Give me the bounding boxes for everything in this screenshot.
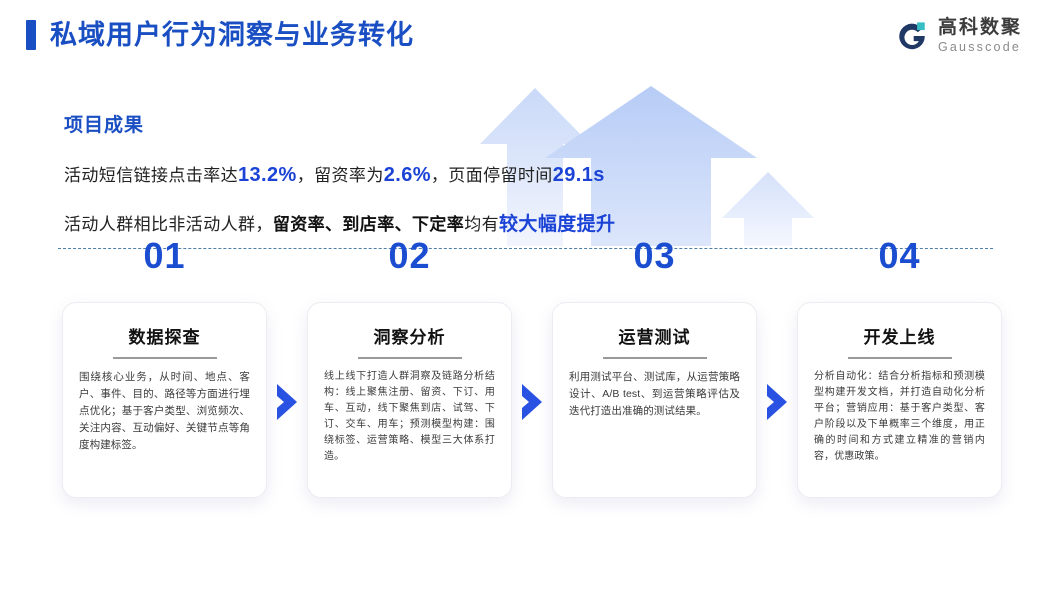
results-line-2: 活动人群相比非活动人群，留资率、到店率、下定率均有较大幅度提升 — [64, 209, 615, 236]
step-title-01: 数据探查 — [79, 329, 250, 348]
step-rule-02 — [358, 357, 462, 359]
results-line2-highlight: 较大幅度提升 — [499, 214, 615, 235]
step-card-02[interactable]: 洞察分析 线上线下打造人群洞察及链路分析结构：线上聚焦注册、留资、下订、用车、互… — [307, 302, 512, 498]
step-rule-03 — [603, 357, 707, 359]
brand-logo: 高科数聚 Gausscode — [895, 18, 1022, 54]
chevron-right-icon — [519, 382, 545, 422]
step-number-02: 02 — [307, 238, 512, 274]
step-title-04: 开发上线 — [814, 329, 985, 348]
up-arrow-decor-icon — [722, 172, 814, 246]
metric-click-rate: 13.2% — [238, 164, 297, 186]
chevron-right-icon — [764, 382, 790, 422]
brand-logo-text: 高科数聚 Gausscode — [938, 18, 1022, 54]
page-title: 私域用户行为洞察与业务转化 — [50, 22, 414, 49]
title-accent-bar — [26, 20, 36, 50]
step-card-03[interactable]: 运营测试 利用测试平台、测试库，从运营策略设计、A/B test、到运营策略评估… — [552, 302, 757, 498]
step-body-02: 线上线下打造人群洞察及链路分析结构：线上聚焦注册、留资、下订、用车、互动，线下聚… — [324, 369, 495, 465]
metric-lead-rate: 2.6% — [384, 164, 431, 186]
step-rule-04 — [848, 357, 952, 359]
process-steps-row: 01 数据探查 围绕核心业务，从时间、地点、客户、事件、目的、路径等方面进行埋点… — [0, 270, 1048, 530]
results-line1-seg2: ，留资率为 — [297, 166, 384, 185]
step-body-04: 分析自动化：结合分析指标和预测模型构建开发文档，并打造自动化分析平台；营销应用：… — [814, 369, 985, 465]
step-card-04[interactable]: 开发上线 分析自动化：结合分析指标和预测模型构建开发文档，并打造自动化分析平台；… — [797, 302, 1002, 498]
results-line2-seg2: 均有 — [464, 215, 499, 234]
slide-root: 私域用户行为洞察与业务转化 高科数聚 Gausscode 项目成果 活动短信链接… — [0, 0, 1048, 591]
step-number-04: 04 — [797, 238, 1002, 274]
step-body-03: 利用测试平台、测试库，从运营策略设计、A/B test、到运营策略评估及迭代打造… — [569, 369, 740, 420]
page-header: 私域用户行为洞察与业务转化 — [26, 20, 414, 50]
results-line2-seg1: 活动人群相比非活动人群， — [64, 215, 273, 234]
results-heading: 项目成果 — [64, 110, 615, 137]
results-line-1: 活动短信链接点击率达13.2%，留资率为2.6%，页面停留时间29.1s — [64, 161, 615, 187]
step-card-01[interactable]: 数据探查 围绕核心业务，从时间、地点、客户、事件、目的、路径等方面进行埋点优化；… — [62, 302, 267, 498]
results-line1-seg1: 活动短信链接点击率达 — [64, 166, 238, 185]
step-title-03: 运营测试 — [569, 329, 740, 348]
gausscode-g-logo-icon — [895, 19, 929, 53]
step-body-01: 围绕核心业务，从时间、地点、客户、事件、目的、路径等方面进行埋点优化；基于客户类… — [79, 369, 250, 454]
step-number-01: 01 — [62, 238, 267, 274]
step-rule-01 — [113, 357, 217, 359]
results-line2-bold: 留资率、到店率、下定率 — [273, 215, 464, 234]
step-number-03: 03 — [552, 238, 757, 274]
brand-name-cn: 高科数聚 — [938, 18, 1022, 37]
brand-name-en: Gausscode — [938, 41, 1022, 54]
results-line1-seg3: ，页面停留时间 — [431, 166, 553, 185]
step-title-02: 洞察分析 — [324, 329, 495, 348]
chevron-right-icon — [274, 382, 300, 422]
metric-dwell-time: 29.1s — [553, 164, 605, 186]
